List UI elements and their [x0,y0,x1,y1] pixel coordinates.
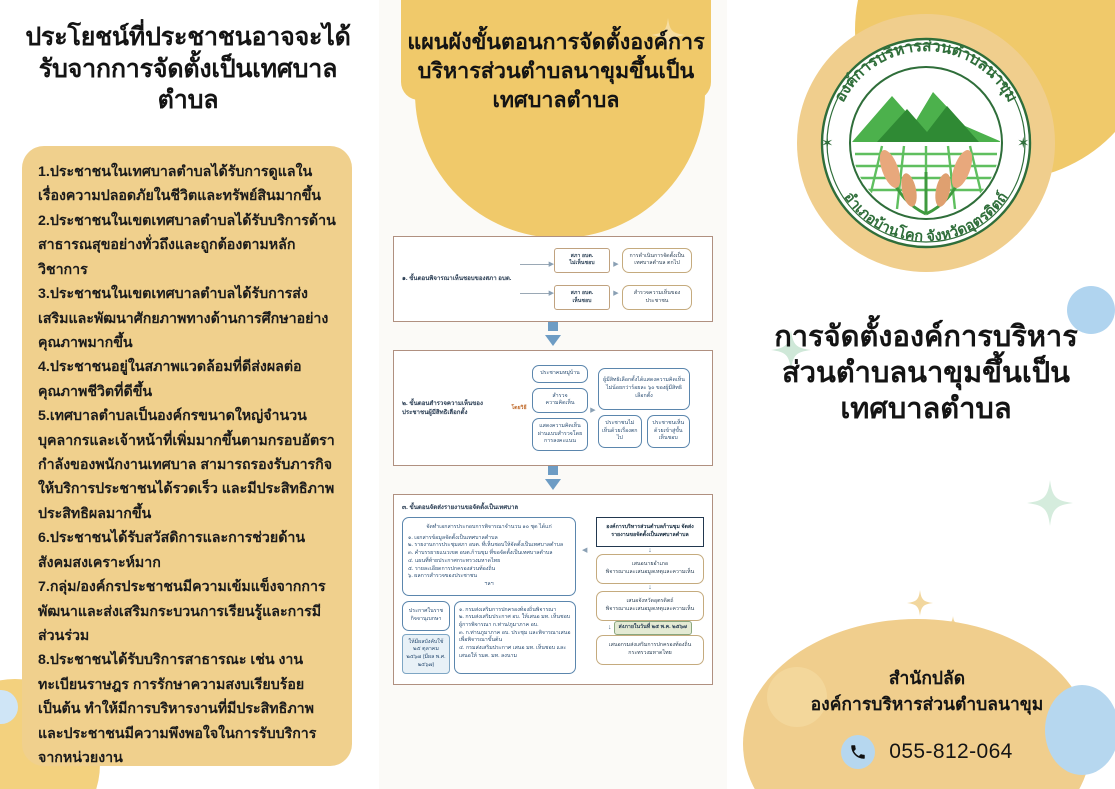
flow-box-documents: จัดทำเอกสารประกอบการพิจารณาจำนวน ๑๐ ชุด … [402,517,576,595]
flow-box-ministry: เสนอกรมส่งเสริมการปกครองท้องถิ่นกระทรวงม… [596,635,704,665]
center-panel: แผนผังขั้นตอนการจัดตั้งองค์การบริหารส่วน… [379,0,729,789]
flow-connector-1 [393,322,713,346]
flow-box-method-ballot: แสดงความคิดเห็นผ่านแบบสำรวจโดยการลงคะแนน [532,418,588,451]
benefit-item: 1.ประชาชนในเทศบาลตำบลได้รับการดูแลในเรื่… [38,160,336,209]
benefit-item: 7.กลุ่ม/องค์กรประชาชนมีความเข้มแข็งจากกา… [38,575,336,648]
center-panel-title: แผนผังขั้นตอนการจัดตั้งองค์การบริหารส่วน… [399,28,713,114]
benefit-item: 3.ประชาชนในเขตเทศบาลตำบลได้รับการส่งเสริ… [38,282,336,355]
flow-box-approval-steps: ๑. กรมส่งเสริมการปกครองท้องถิ่นพิจารณา ๒… [454,601,576,675]
flowchart: ๑. ขั้นตอนพิจารณาเห็นชอบของสภา อบต. ▶ ▶ … [393,236,713,685]
flow-box-submit-report: องค์การบริหารส่วนตำบลก้านขุม จัดส่งรายงา… [596,517,704,547]
phone-number[interactable]: 055-812-064 [889,740,1013,764]
benefit-item: 6.ประชาชนได้รับสวัสดิการและการช่วยด้านสั… [38,526,336,575]
footer-department: สำนักปลัด องค์การบริหารส่วนตำบลนาขุม [757,666,1097,717]
benefits-card: 1.ประชาชนในเทศบาลตำบลได้รับการดูแลในเรื่… [22,146,352,766]
flow-section-2-label: ๒. ขั้นตอนสำรวจความเห็นของประชาชนผู้มีสิ… [402,399,506,417]
flow-box-council-accept: สภา อบต. เห็นชอบ [554,285,610,310]
approval-step: ๒. กรมส่งเสริมประกาศ อบ. ให้เสนอ มท. เห็… [459,614,571,629]
flow-box-accept-result: สำรวจความเห็นของประชาชน [622,285,692,310]
flow-box-district-chief: เสนอนายอำเภอ พิจารณาและเสนอมูลเหตุและควา… [596,554,704,584]
benefit-item: 8.ประชาชนได้รับบริการสาธารณะ เช่น งานทะเ… [38,648,336,770]
flow-section-3-label: ๓. ขั้นตอนจัดส่งรายงานขอจัดตั้งเป็นเทศบา… [402,503,704,512]
seal-star-left: ✶ [821,135,834,152]
right-panel: องค์การบริหารส่วนตำบลนาขุม อำเภอบ้านโคก … [737,0,1115,789]
flow-box-eligible-voters: ผู้มีสิทธิเลือกตั้งได้แสดงความคิดเห็นไม่… [598,368,690,410]
sparkle-icon [1027,480,1073,526]
document-item: ๓. คำบรรยายแนวเขต อบต.ก้านขุม ที่ขอจัดตั… [408,550,570,558]
flow-section-3: ๓. ขั้นตอนจัดส่งรายงานขอจัดตั้งเป็นเทศบา… [393,494,713,685]
organization-seal: องค์การบริหารส่วนตำบลนาขุม อำเภอบ้านโคก … [797,14,1055,272]
flow-box-method-assembly: ประชาคมหมู่บ้าน [532,365,588,383]
flow-box-reject-result: การดำเนินการจัดตั้งเป็นเทศบาลตำบล ตกไป [622,248,692,273]
benefit-item: 4.ประชาชนอยู่ในสภาพแวดล้อมที่ดีส่งผลต่อค… [38,355,336,404]
footer-line-1: สำนักปลัด [757,666,1097,691]
flow-method-label: โดยวิธี [506,404,532,412]
footer-line-2: องค์การบริหารส่วนตำบลนาขุม [757,692,1097,717]
seal-star-right: ✶ [1017,135,1030,152]
flow-box-people-disagree: ประชาชนไม่เห็นด้วยเรื่องตกไป [598,415,642,448]
flow-box-province: เสนอจังหวัดอุตรดิตถ์ พิจารณาและเสนอมูลเห… [596,591,704,621]
document-item: ๖. ผลการสำรวจของประชาชน [408,573,570,581]
flow-section-1: ๑. ขั้นตอนพิจารณาเห็นชอบของสภา อบต. ▶ ▶ … [393,236,713,322]
flow-box-gazette: ประกาศในราชกิจจานุเบกษา [402,601,450,631]
right-panel-title: การจัดตั้งองค์การบริหารส่วนตำบลนาขุมขึ้น… [751,320,1101,428]
flow-section-1-label: ๑. ขั้นตอนพิจารณาเห็นชอบของสภา อบต. [402,274,520,283]
benefit-item: 2.ประชาชนในเขตเทศบาลตำบลได้รับบริการด้าน… [38,209,336,282]
sparkle-icon [907,590,933,616]
left-panel: ประโยชน์ที่ประชาชนอาจจะได้รับจากการจัดตั… [0,0,372,789]
flow-box-council-reject: สภา อบต. ไม่เห็นชอบ [554,248,610,273]
document-item: ๔. แผนที่ท้ายประกาศกระทรวงมหาดไทย [408,558,570,566]
left-panel-title: ประโยชน์ที่ประชาชนอาจจะได้รับจากการจัดตั… [18,22,358,117]
documents-header: จัดทำเอกสารประกอบการพิจารณาจำนวน ๑๐ ชุด … [408,524,570,532]
phone-icon [841,735,875,769]
approval-step: ๓. ก.ท่านภูมาภาค อบ. ประชุม และพิจารณาเส… [459,630,571,645]
approval-step: ๔. กรมส่งเสริมประกาศ เสนอ มท. เห็นชอบ แล… [459,645,571,660]
benefit-item: 5.เทศบาลตำบลเป็นองค์กรขนาดใหญ่จำนวนบุคลา… [38,404,336,526]
flow-box-people-agree: ประชาชนเห็นด้วยเข้าสู่ขั้นเห็นชอบ [647,415,691,448]
flow-section-2: ๒. ขั้นตอนสำรวจความเห็นของประชาชนผู้มีสิ… [393,350,713,466]
document-item: ฯลฯ [408,581,570,589]
flow-box-method-survey: สำรวจ ความคิดเห็น [532,388,588,413]
contact-phone-row[interactable]: 055-812-064 [757,735,1097,769]
document-item: ๒. รายงานการประชุมสภา อบต. ที่เห็นชอบให้… [408,542,570,550]
seal-graphic: องค์การบริหารส่วนตำบลนาขุม อำเภอบ้านโคก … [797,14,1055,272]
flow-connector-2 [393,466,713,490]
flow-box-gazette-note: ให้มีผลบังคับใช้ ๒๕ ตุลาคม ๒๕๖๗ (มีผล พ.… [402,634,450,675]
flow-box-deadline-note: ส่งภายในวันที่ ๒๕ พ.ค. ๒๕๖๗ [614,621,692,635]
